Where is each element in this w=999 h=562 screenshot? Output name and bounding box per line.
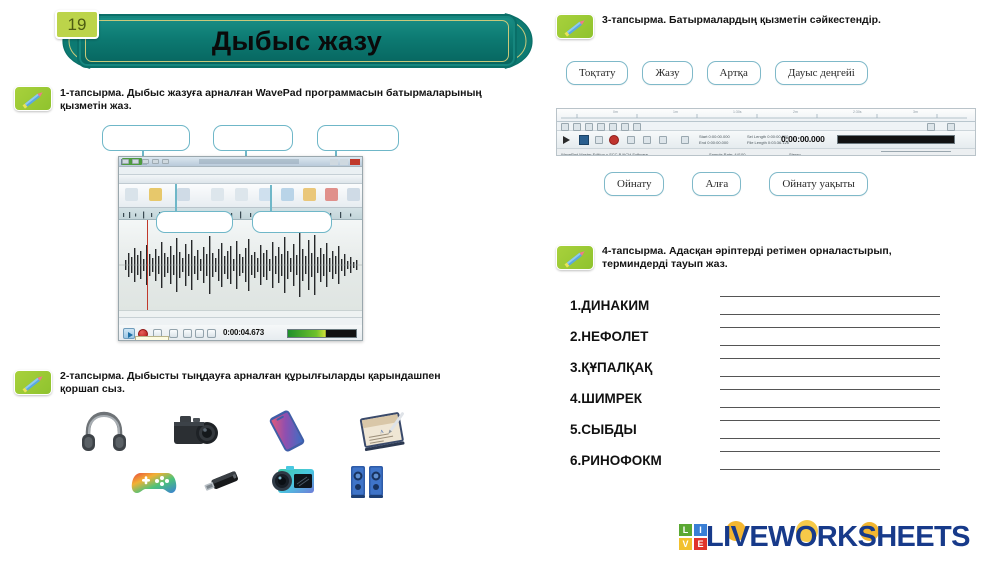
logo-letter-tiles: L I V E [678, 523, 708, 551]
word-row: 2.НЕФОЛЕТ [570, 321, 940, 352]
mini-tool-strip [557, 122, 975, 131]
word-text-3: ҚҰПАЛҚАҚ [581, 360, 652, 375]
word-text-5: СЫБДЫ [581, 422, 637, 437]
wavepad-toolbar-screenshot: 0m1m1:30s 2m2:30s3m Start 0:00:00.000 En… [556, 108, 976, 156]
word-text-2: НЕФОЛЕТ [581, 329, 648, 344]
word-text-6: РИНОФОКМ [581, 453, 661, 468]
button-name-chips-row-2: Ойнату Алға Ойнату уақыты [604, 172, 964, 196]
pencil-icon [556, 14, 594, 39]
callout-box-5[interactable] [252, 211, 332, 233]
callout-box-1[interactable] [102, 125, 190, 151]
pencil-icon [556, 245, 594, 270]
gamepad-icon[interactable] [131, 465, 177, 497]
record-button[interactable] [609, 135, 619, 145]
status-mid: Sample Rate: 44100 [709, 152, 745, 156]
logo-tile-l: L [678, 523, 693, 537]
answer-line-1[interactable] [720, 293, 940, 319]
svg-text:0m: 0m [613, 110, 618, 114]
rewind-button[interactable] [195, 329, 204, 338]
word-label-5: 5.СЫБДЫ [570, 422, 720, 437]
chip-oinatu[interactable]: Ойнату [604, 172, 664, 196]
chip-toqtatu[interactable]: Тоқтату [566, 61, 628, 85]
logo-tile-v: V [678, 537, 693, 551]
logo-wordmark: LIVEWORKSHEETS [706, 521, 970, 554]
word-label-4: 4.ШИМРЕК [570, 391, 720, 406]
smartphone-icon[interactable] [261, 410, 313, 452]
task-3-text: 3-тапсырма. Батырмалардың қызметін сәйке… [602, 14, 881, 27]
liveworksheets-logo: L I V E LIVEWORKSHEETS [678, 519, 978, 557]
speakers-icon[interactable] [345, 462, 389, 500]
word-row: 6.РИНОФОКМ [570, 445, 940, 476]
answer-line-3[interactable] [720, 355, 940, 381]
word-number-3: 3. [570, 360, 581, 375]
task-4-heading: 4-тапсырма. Адасқан әріптерді ретімен ор… [556, 245, 956, 271]
record-tooltip [135, 336, 169, 341]
wavepad-menubar [119, 167, 362, 175]
wavepad-screenshot-figure: 0:00:04.673 [85, 125, 410, 360]
chip-oinatu-uaqyty[interactable]: Ойнату уақыты [769, 172, 867, 196]
answer-line-5[interactable] [720, 417, 940, 443]
word-label-1: 1.ДИНАКИМ [570, 298, 720, 313]
chip-dauys-dengeyi[interactable]: Дауыс деңгейі [775, 61, 868, 85]
wavepad-tool-strip [119, 317, 362, 325]
task-1-heading: 1-тапсырма. Дыбыс жазуға арналған WavePa… [14, 86, 484, 113]
svg-text:1:30s: 1:30s [733, 110, 742, 114]
play-button[interactable] [563, 136, 570, 144]
mini-timecode: 0:00:00.000 [781, 134, 825, 144]
skip-start-button[interactable] [627, 136, 635, 144]
word-number-6: 6. [570, 453, 581, 468]
level-meter [287, 329, 357, 338]
svg-text:1m: 1m [673, 110, 678, 114]
stop-button[interactable] [169, 329, 178, 338]
callout-box-4[interactable] [156, 211, 233, 233]
skip-start-button[interactable] [183, 329, 192, 338]
callout-box-3[interactable] [317, 125, 399, 151]
worksheet-page: Дыбыс жазу 19 1-тапсырма. Дыбыс жазуға а… [0, 0, 999, 562]
status-right: Stereo [789, 152, 801, 156]
task-3-heading: 3-тапсырма. Батырмалардың қызметін сәйке… [556, 14, 976, 39]
word-label-6: 6.РИНОФОКМ [570, 453, 720, 468]
stop-button[interactable] [579, 135, 589, 145]
camera-icon[interactable] [169, 410, 221, 452]
word-row: 3.ҚҰПАЛҚАҚ [570, 352, 940, 383]
word-text-1: ДИНАКИМ [581, 298, 649, 313]
svg-text:2m: 2m [793, 110, 798, 114]
word-label-2: 2.НЕФОЛЕТ [570, 329, 720, 344]
tablet-icon[interactable]: ᴀ [354, 409, 410, 453]
svg-text:3m: 3m [913, 110, 918, 114]
wavepad-waveform [119, 220, 362, 310]
rewind-button[interactable] [643, 136, 651, 144]
task-1-text: 1-тапсырма. Дыбыс жазуға арналған WavePa… [60, 86, 484, 113]
word-row: 5.СЫБДЫ [570, 414, 940, 445]
device-icon-grid: ᴀ [60, 405, 430, 505]
mini-statusbar: WavePad Master Edition v SCC B NCH Softw… [557, 148, 975, 156]
device-row-1: ᴀ [60, 405, 430, 457]
task-4-text: 4-тапсырма. Адасқан әріптерді ретімен ор… [602, 245, 956, 271]
level-meter [837, 135, 955, 144]
usb-flash-drive-icon[interactable] [200, 466, 246, 496]
word-number-5: 5. [570, 422, 581, 437]
callout-box-2[interactable] [213, 125, 293, 151]
chip-artqa[interactable]: Артқа [707, 61, 761, 85]
callout-tail-4 [175, 184, 177, 211]
callout-tail-5 [270, 185, 272, 211]
mini-ruler: 0m1m1:30s 2m2:30s3m [557, 109, 975, 122]
wavepad-transport-bar: 0:00:04.673 [119, 325, 362, 341]
word-number-4: 4. [570, 391, 581, 406]
chip-jazu[interactable]: Жазу [642, 61, 692, 85]
play-button[interactable] [123, 328, 135, 339]
wavepad-playhead [147, 220, 148, 310]
word-row: 4.ШИМРЕК [570, 383, 940, 414]
device-row-2 [60, 457, 430, 505]
button-name-chips-row-1: Тоқтату Жазу Артқа Дауыс деңгейі [566, 61, 976, 85]
answer-line-2[interactable] [720, 324, 940, 350]
task-2-text: 2-тапсырма. Дыбысты тыңдауға арналған құ… [60, 370, 474, 396]
wavepad-ribbon [119, 184, 362, 208]
status-left: WavePad Master Edition v SCC B NCH Softw… [561, 152, 648, 156]
word-number-2: 2. [570, 329, 581, 344]
pencil-icon [14, 86, 52, 111]
camcorder-icon[interactable] [268, 463, 322, 499]
forward-button[interactable] [659, 136, 667, 144]
word-text-4: ШИМРЕК [581, 391, 642, 406]
word-row: 1.ДИНАКИМ [570, 290, 940, 321]
mini-transport-bar: Start 0:00:00.000 End 0:00:00.000 Sel Le… [557, 131, 975, 148]
word-label-3: 3.ҚҰПАЛҚАҚ [570, 360, 720, 375]
answer-line-4[interactable] [720, 386, 940, 412]
title-banner: Дыбыс жазу 19 [55, 10, 530, 72]
scrambled-words-list: 1.ДИНАКИМ 2.НЕФОЛЕТ 3.ҚҰПАЛҚАҚ 4.ШИМРЕК … [570, 290, 940, 476]
wavepad-ribbon-tabs [119, 175, 362, 184]
wavepad-timecode: 0:00:04.673 [223, 328, 264, 337]
pencil-icon [14, 370, 52, 395]
page-title: Дыбыс жазу [77, 14, 517, 68]
svg-text:2:30s: 2:30s [853, 110, 862, 114]
wavepad-time-axis [119, 310, 362, 317]
headphones-icon[interactable] [80, 408, 128, 454]
page-number-badge: 19 [55, 10, 99, 39]
chip-alga[interactable]: Алға [692, 172, 741, 196]
loop-button[interactable] [595, 136, 603, 144]
forward-button[interactable] [207, 329, 216, 338]
word-number-1: 1. [570, 298, 581, 313]
wavepad-window: 0:00:04.673 [118, 156, 363, 341]
skip-end-button[interactable] [681, 136, 689, 144]
answer-line-6[interactable] [720, 448, 940, 474]
task-2-heading: 2-тапсырма. Дыбысты тыңдауға арналған құ… [14, 370, 474, 396]
